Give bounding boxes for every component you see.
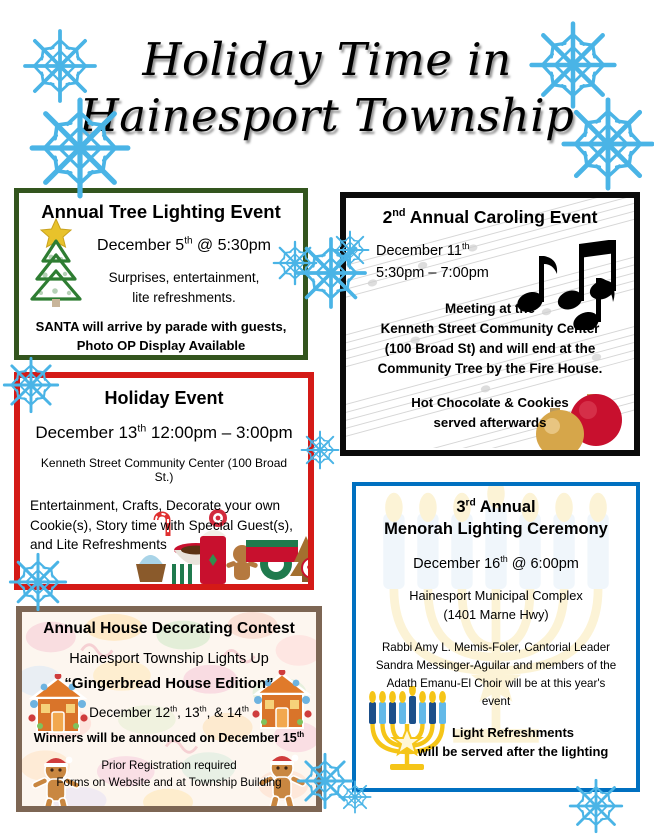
holiday-event-datetime: December 13th 12:00pm – 3:00pm <box>30 423 298 443</box>
flyer-page: Holiday Time in Hainesport Township <box>0 0 654 838</box>
holiday-event-description: Entertainment, Crafts, Decorate your own… <box>30 496 298 555</box>
caroling-datetime: December 11th 5:30pm – 7:00pm <box>356 240 624 285</box>
tree-lighting-details: Surprises, entertainment, lite refreshme… <box>27 268 295 307</box>
holiday-event-desc-1: Entertainment, Crafts, Decorate your own <box>30 496 298 516</box>
tree-lighting-detail-1: Surprises, entertainment, <box>73 268 295 288</box>
event-card-tree-lighting: Annual Tree Lighting Event December 5th … <box>14 188 308 360</box>
menorah-refreshments: Light Refreshments will be served after … <box>368 723 624 762</box>
menorah-rabbi-4: event <box>368 693 624 711</box>
caroling-heading: 2nd Annual Caroling Event <box>356 207 624 228</box>
contest-winners: Winners will be announced on December 15… <box>30 731 308 745</box>
contest-registration: Prior Registration required Forms on Web… <box>30 757 308 792</box>
menorah-loc-1: Hainesport Municipal Complex <box>368 586 624 605</box>
event-card-decorating-contest: Annual House Decorating Contest Hainespo… <box>16 606 322 812</box>
holiday-event-desc-2: Cookie(s), Story time with Special Guest… <box>30 516 298 536</box>
caroling-hot-1: Hot Chocolate & Cookies <box>356 393 624 412</box>
menorah-rabbi-1: Rabbi Amy L. Memis-Foler, Cantorial Lead… <box>368 639 624 657</box>
caroling-refreshments: Hot Chocolate & Cookies served afterward… <box>356 393 624 431</box>
holiday-event-location: Kenneth Street Community Center (100 Bro… <box>30 456 298 484</box>
holiday-event-desc-3: and Lite Refreshments <box>30 535 298 555</box>
menorah-ref-2: will be served after the lighting <box>402 742 624 762</box>
page-title: Holiday Time in Hainesport Township <box>0 8 654 168</box>
caroling-meet-4: Community Tree by the Fire House. <box>378 361 603 376</box>
caroling-meeting-info: Meeting at the Kenneth Street Community … <box>356 299 624 379</box>
menorah-heading-line1: 3rd Annual <box>368 496 624 518</box>
contest-edition: “Gingerbread House Edition” <box>30 675 308 692</box>
tree-lighting-detail-2: lite refreshments. <box>73 288 295 308</box>
menorah-datetime: December 16th @ 6:00pm <box>368 556 624 572</box>
title-line-1: Holiday Time in <box>142 37 511 83</box>
contest-reg-2: Forms on Website and at Township Buildin… <box>30 774 308 791</box>
caroling-meet-2: Kenneth Street Community Center <box>381 321 600 336</box>
event-card-holiday-event: Holiday Event December 13th 12:00pm – 3:… <box>14 372 314 590</box>
contest-reg-1: Prior Registration required <box>30 757 308 774</box>
tree-lighting-heading: Annual Tree Lighting Event <box>27 201 295 223</box>
holiday-event-heading: Holiday Event <box>30 388 298 409</box>
contest-subline: Hainesport Township Lights Up <box>30 651 308 667</box>
caroling-date: December 11th <box>376 240 624 262</box>
event-card-menorah-lighting: 3rd Annual Menorah Lighting Ceremony Dec… <box>352 482 640 792</box>
menorah-ref-1: Light Refreshments <box>402 723 624 743</box>
contest-dates: December 12th, 13th, & 14th <box>30 705 308 720</box>
caroling-hot-2: served afterwards <box>356 413 624 432</box>
menorah-guests: Rabbi Amy L. Memis-Foler, Cantorial Lead… <box>368 639 624 711</box>
tree-lighting-santa-note: SANTA will arrive by parade with guests,… <box>27 318 295 356</box>
caroling-time: 5:30pm – 7:00pm <box>376 262 624 284</box>
menorah-heading-line2: Menorah Lighting Ceremony <box>368 518 624 540</box>
menorah-loc-2: (1401 Marne Hwy) <box>368 605 624 624</box>
caroling-meet-3: (100 Broad St) and will end at the <box>385 341 596 356</box>
title-line-2: Hainesport Township <box>80 93 575 139</box>
tree-lighting-bold-1: SANTA will arrive by parade with guests, <box>27 318 295 337</box>
tree-lighting-date: December 5th @ 5:30pm <box>27 237 295 255</box>
event-card-caroling: 2nd Annual Caroling Event December 11th … <box>340 192 640 456</box>
menorah-location: Hainesport Municipal Complex (1401 Marne… <box>368 586 624 624</box>
menorah-rabbi-2: Sandra Messinger-Aguilar and members of … <box>368 657 624 675</box>
menorah-rabbi-3: Adath Emanu-El Choir will be at this yea… <box>368 675 624 693</box>
menorah-heading: 3rd Annual Menorah Lighting Ceremony <box>368 496 624 541</box>
tree-lighting-bold-2: Photo OP Display Available <box>27 337 295 356</box>
caroling-meet-1: Meeting at the <box>356 299 624 319</box>
contest-heading: Annual House Decorating Contest <box>30 620 308 638</box>
